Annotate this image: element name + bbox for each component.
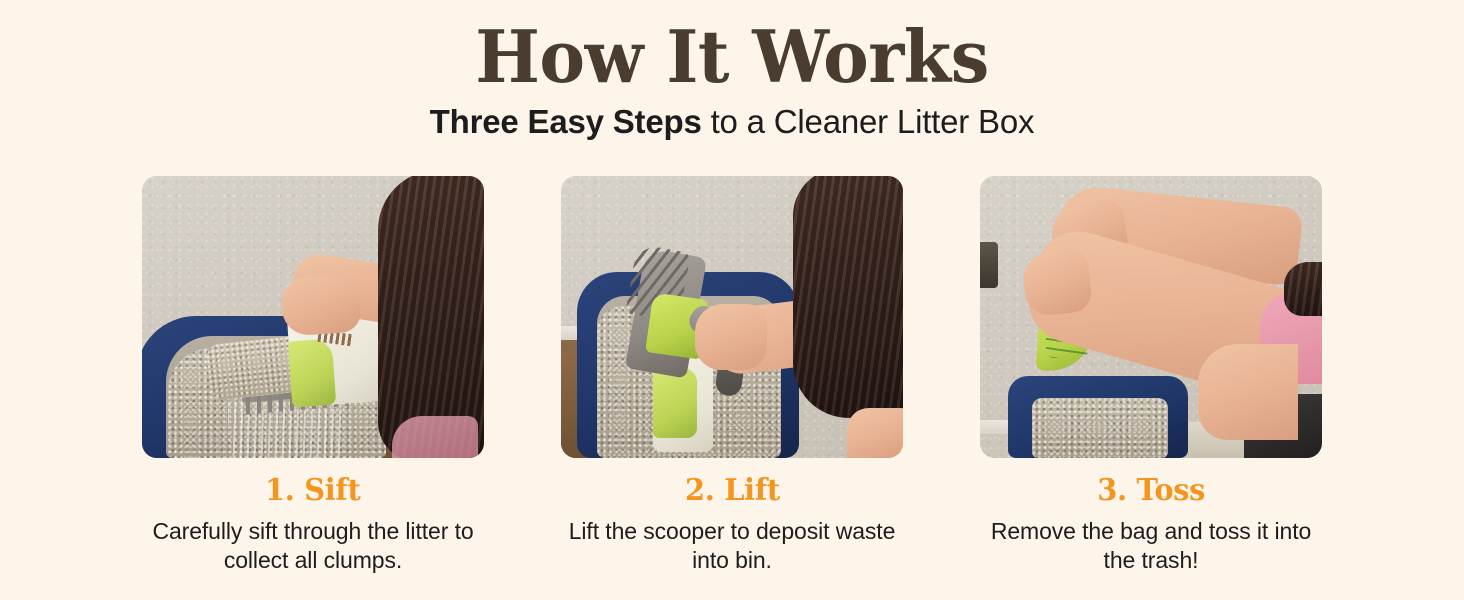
step-3: 3. Toss Remove the bag and toss it into … xyxy=(980,176,1322,576)
waste-bag xyxy=(653,368,697,438)
photo-scene-lift xyxy=(561,176,903,458)
hair xyxy=(793,176,903,418)
steps-row: 1. Sift Carefully sift through the litte… xyxy=(142,176,1322,576)
second-hand xyxy=(847,408,903,458)
how-it-works-banner: How It Works Three Easy Steps to a Clean… xyxy=(0,0,1464,600)
step-2-title: 2. Lift xyxy=(685,458,780,507)
step-3-photo xyxy=(980,176,1322,458)
page-title: How It Works xyxy=(37,0,1428,90)
step-1-photo xyxy=(142,176,484,458)
photo-scene-toss xyxy=(980,176,1322,458)
lower-hand xyxy=(1021,249,1093,318)
waste-bag xyxy=(288,339,336,408)
step-3-title: 3. Toss xyxy=(1097,458,1205,507)
header: How It Works Three Easy Steps to a Clean… xyxy=(0,0,1464,141)
step-1-title: 1. Sift xyxy=(265,458,361,507)
page-subtitle-rest: to a Cleaner Litter Box xyxy=(702,103,1035,140)
shirt xyxy=(392,416,478,458)
step-1-description: Carefully sift through the litter to col… xyxy=(148,507,478,576)
hand xyxy=(280,273,362,336)
step-2: 2. Lift Lift the scooper to deposit wast… xyxy=(561,176,903,576)
page-subtitle-strong: Three Easy Steps xyxy=(430,103,702,140)
photo-scene-sift xyxy=(142,176,484,458)
litter-bed xyxy=(1032,398,1168,458)
torso xyxy=(1198,344,1298,440)
hand xyxy=(695,304,767,370)
wall-outlet xyxy=(980,242,998,288)
step-2-photo xyxy=(561,176,903,458)
step-1: 1. Sift Carefully sift through the litte… xyxy=(142,176,484,576)
step-3-description: Remove the bag and toss it into the tras… xyxy=(986,507,1316,576)
step-2-description: Lift the scooper to deposit waste into b… xyxy=(567,507,897,576)
hair xyxy=(1284,262,1322,316)
